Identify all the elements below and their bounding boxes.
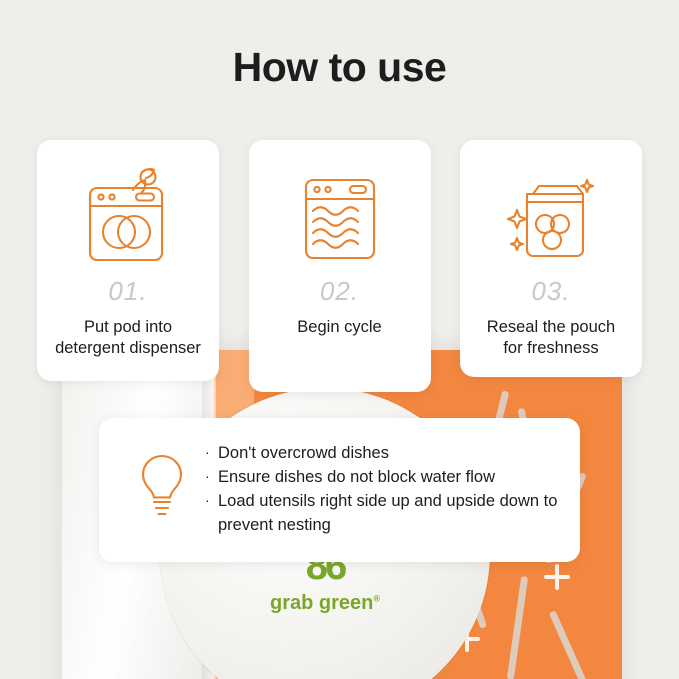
tip-item: · Don't overcrowd dishes [205, 442, 558, 466]
page-title: How to use [0, 44, 679, 91]
steps-row: 01. Put pod into detergent dispenser [37, 140, 642, 392]
step-number-3: 03. [470, 276, 632, 307]
step-text-line: detergent dispenser [47, 338, 209, 359]
dishwasher-running-cycle-icon [259, 162, 421, 274]
how-to-use-overlay: How to use 01. Put pod [0, 0, 679, 679]
step-text-3: Reseal the pouch for freshness [470, 317, 632, 359]
tip-text: Load utensils right side up and upside d… [218, 490, 558, 538]
tips-card: · Don't overcrowd dishes · Ensure dishes… [99, 418, 580, 562]
step-text-line: Begin cycle [259, 317, 421, 338]
tips-list: · Don't overcrowd dishes · Ensure dishes… [205, 440, 558, 538]
bullet-icon: · [205, 466, 218, 490]
tip-item: · Load utensils right side up and upside… [205, 490, 558, 538]
step-number-1: 01. [47, 276, 209, 307]
dishwasher-with-pod-icon [47, 162, 209, 274]
bullet-icon: · [205, 442, 218, 466]
step-card-2: 02. Begin cycle [249, 140, 431, 392]
step-text-line: Put pod into [47, 317, 209, 338]
step-text-2: Begin cycle [259, 317, 421, 338]
tip-item: · Ensure dishes do not block water flow [205, 466, 558, 490]
tip-text: Ensure dishes do not block water flow [218, 466, 495, 490]
tip-text: Don't overcrowd dishes [218, 442, 389, 466]
step-number-2: 02. [259, 276, 421, 307]
lightbulb-icon [119, 440, 205, 520]
step-card-3: 03. Reseal the pouch for freshness [460, 140, 642, 377]
bullet-icon: · [205, 490, 218, 538]
step-text-line: for freshness [470, 338, 632, 359]
step-text-1: Put pod into detergent dispenser [47, 317, 209, 359]
resealable-pouch-sparkle-icon [470, 162, 632, 274]
step-text-line: Reseal the pouch [470, 317, 632, 338]
step-card-1: 01. Put pod into detergent dispenser [37, 140, 219, 381]
